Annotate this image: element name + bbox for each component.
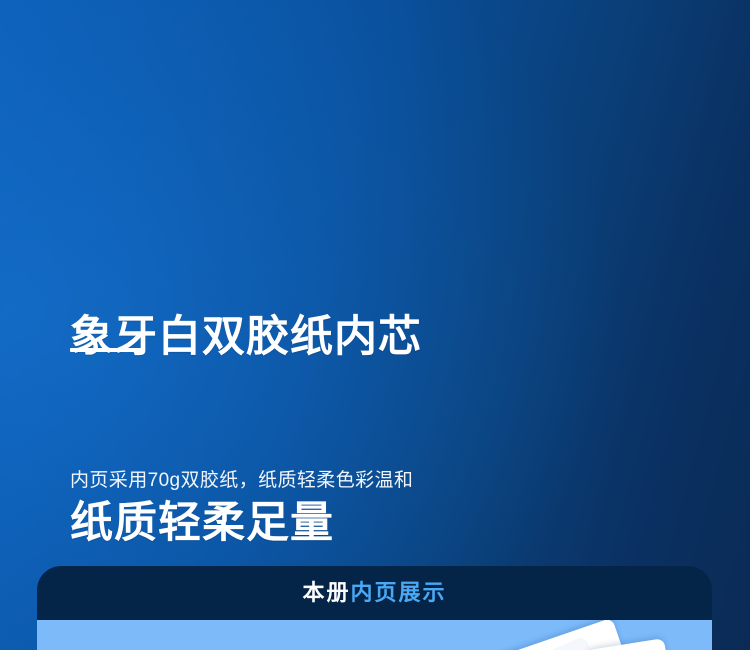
showcase-photo	[37, 620, 712, 650]
showcase-title-prefix: 本册	[302, 580, 350, 605]
description-line-1: 内页采用70g双胶纸，纸质轻柔色彩温和	[70, 464, 499, 497]
showcase-title: 本册内页展示	[302, 582, 446, 604]
product-detail-page: 象牙白双胶纸内芯 纸质轻柔足量 内页采用70g双胶纸，纸质轻柔色彩温和 书写手感…	[0, 0, 750, 650]
inner-pages-showcase-card: 本册内页展示	[37, 566, 712, 650]
showcase-title-suffix: 内页展示	[351, 580, 447, 605]
showcase-header: 本册内页展示	[37, 566, 712, 620]
title-divider	[70, 348, 142, 352]
headline-line-1: 象牙白双胶纸内芯	[70, 306, 422, 368]
